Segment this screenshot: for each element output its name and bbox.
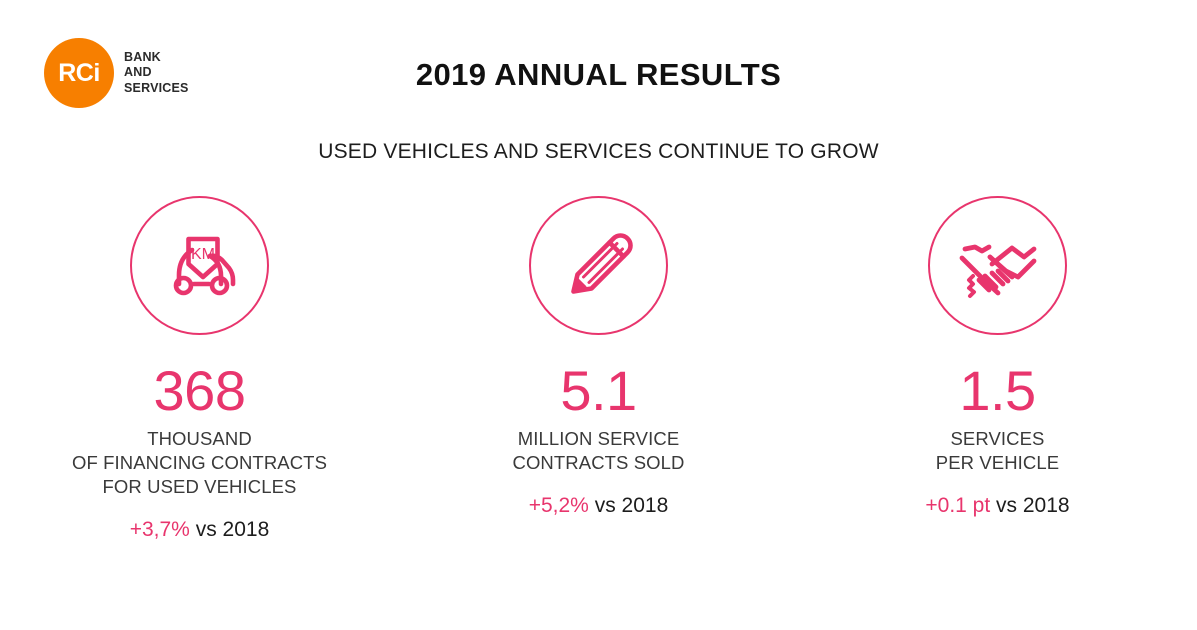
stat-caption-line: OF FINANCING CONTRACTS xyxy=(72,451,327,475)
stat-caption-line: MILLION SERVICE xyxy=(512,427,684,451)
stat-delta: +0.1 pt vs 2018 xyxy=(925,495,1069,516)
car-km-shield-icon: KM xyxy=(130,196,269,335)
stat-delta-change: +0.1 pt xyxy=(925,494,990,517)
stat-delta-change: +5,2% xyxy=(529,494,589,517)
stat-value: 5.1 xyxy=(560,363,636,419)
stat-value: 1.5 xyxy=(959,363,1035,419)
stat-caption-line: PER VEHICLE xyxy=(936,451,1059,475)
stats-row: KM 368 THOUSAND OF FINANCING CONTRACTS F… xyxy=(0,196,1197,540)
stat-card-services-per-vehicle: 1.5 SERVICES PER VEHICLE +0.1 pt vs 2018 xyxy=(798,196,1197,540)
stat-delta-change: +3,7% xyxy=(130,518,190,541)
stat-delta: +3,7% vs 2018 xyxy=(130,519,270,540)
stat-caption-line: FOR USED VEHICLES xyxy=(72,475,327,499)
stat-delta-suffix: vs 2018 xyxy=(996,494,1070,517)
stat-caption: MILLION SERVICE CONTRACTS SOLD xyxy=(512,427,684,475)
handshake-icon xyxy=(928,196,1067,335)
stat-card-service-contracts: 5.1 MILLION SERVICE CONTRACTS SOLD +5,2%… xyxy=(399,196,798,540)
page-subtitle: USED VEHICLES AND SERVICES CONTINUE TO G… xyxy=(0,140,1197,164)
stat-delta-suffix: vs 2018 xyxy=(196,518,270,541)
stat-caption-line: THOUSAND xyxy=(72,427,327,451)
stat-value: 368 xyxy=(154,363,246,419)
svg-text:KM: KM xyxy=(191,246,215,263)
pencil-icon xyxy=(529,196,668,335)
stat-caption: SERVICES PER VEHICLE xyxy=(936,427,1059,475)
page-title: 2019 ANNUAL RESULTS xyxy=(0,57,1197,93)
stat-caption-line: SERVICES xyxy=(936,427,1059,451)
stat-caption-line: CONTRACTS SOLD xyxy=(512,451,684,475)
stat-caption: THOUSAND OF FINANCING CONTRACTS FOR USED… xyxy=(72,427,327,499)
stat-card-financing-contracts: KM 368 THOUSAND OF FINANCING CONTRACTS F… xyxy=(0,196,399,540)
stat-delta-suffix: vs 2018 xyxy=(595,494,669,517)
stat-delta: +5,2% vs 2018 xyxy=(529,495,669,516)
